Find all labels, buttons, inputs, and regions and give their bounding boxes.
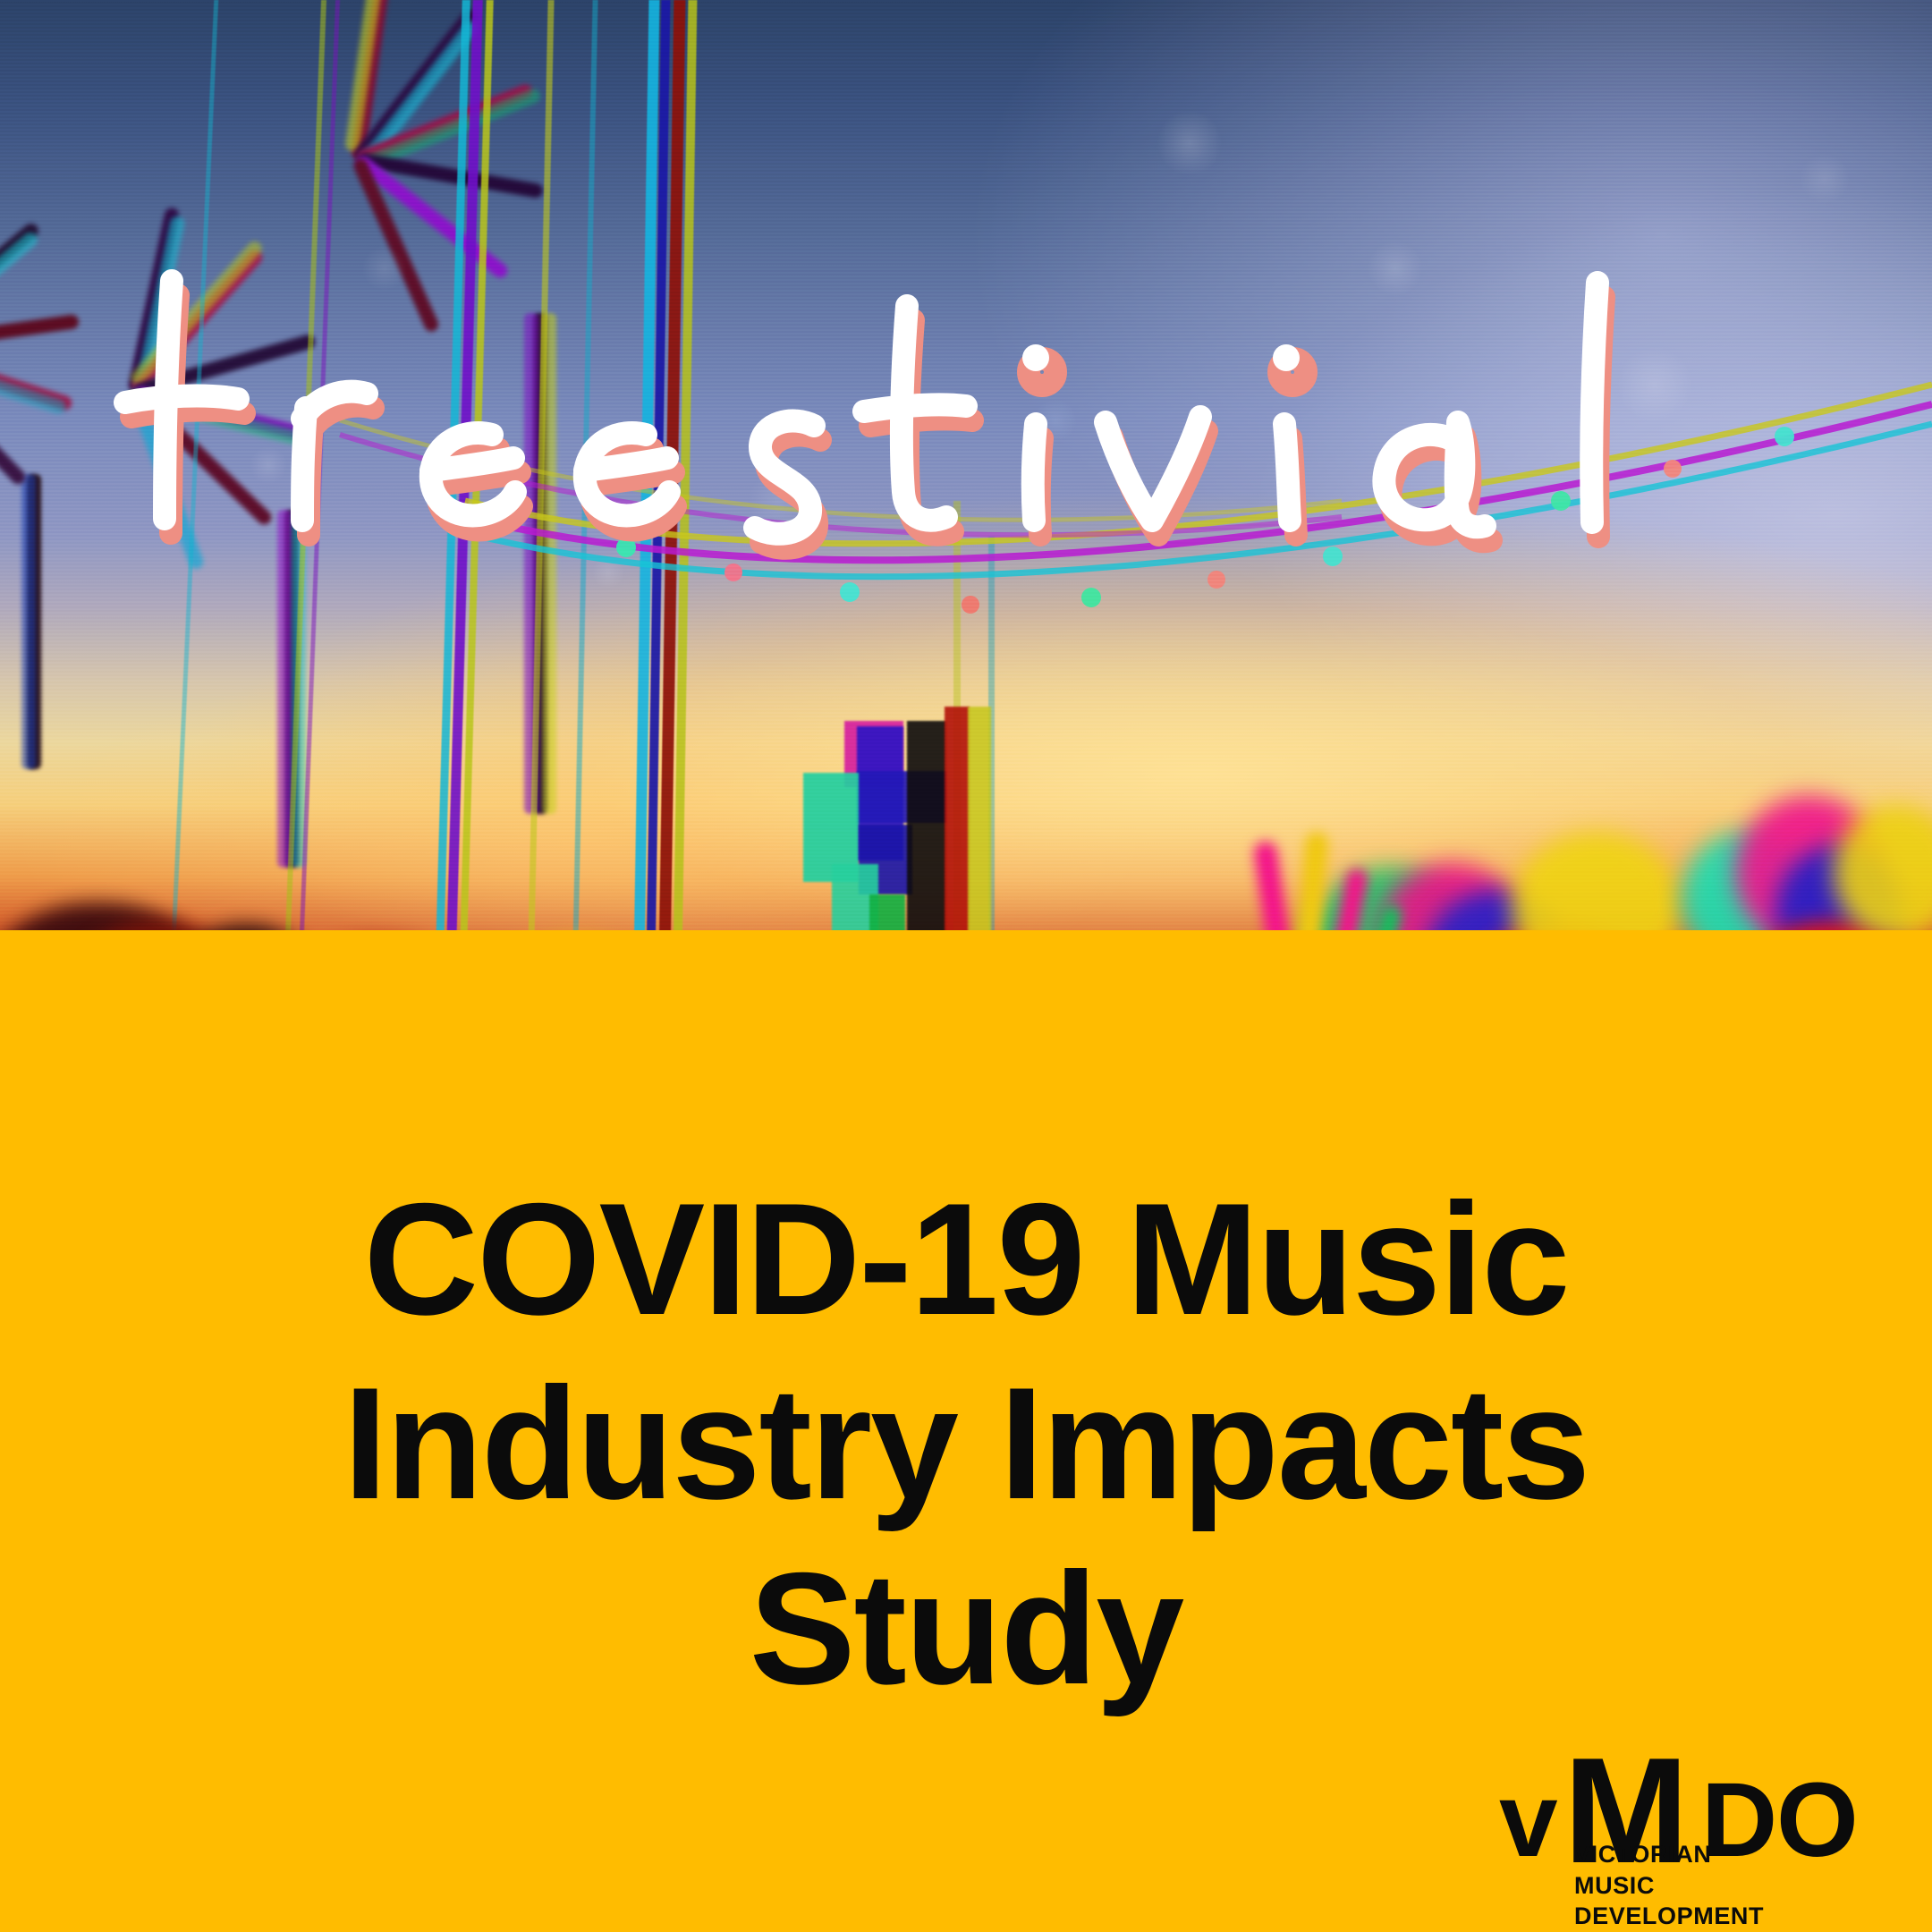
vmdo-logo: v M D O VICTORIAN MUSIC DEVELOPMENT OFFI… [1499,1741,1875,1911]
yellow-panel: COVID-19 Music Industry Impacts Study v … [0,930,1932,1932]
vmdo-word-victorian: VICTORIAN [1574,1839,1764,1870]
title-line-3: Study [0,1537,1932,1721]
vmdo-lockup: v M D O VICTORIAN MUSIC DEVELOPMENT OFFI… [1499,1741,1875,1911]
vmdo-wordmark-lines: VICTORIAN MUSIC DEVELOPMENT OFFICE [1574,1839,1764,1932]
vmdo-letter-v: v [1499,1767,1555,1873]
page-title: COVID-19 Music Industry Impacts Study [0,1167,1932,1721]
photo-grain [0,0,1932,1073]
vmdo-letter-o: O [1776,1767,1855,1873]
hero-photo [0,0,1932,1073]
vmdo-word-development: DEVELOPMENT [1574,1901,1764,1932]
title-line-1: COVID-19 Music [0,1167,1932,1352]
scalloped-wave-divider [0,930,1932,1046]
poster-canvas: freestival [0,0,1932,1932]
title-line-2: Industry Impacts [0,1352,1932,1536]
vmdo-word-music: MUSIC [1574,1870,1764,1902]
